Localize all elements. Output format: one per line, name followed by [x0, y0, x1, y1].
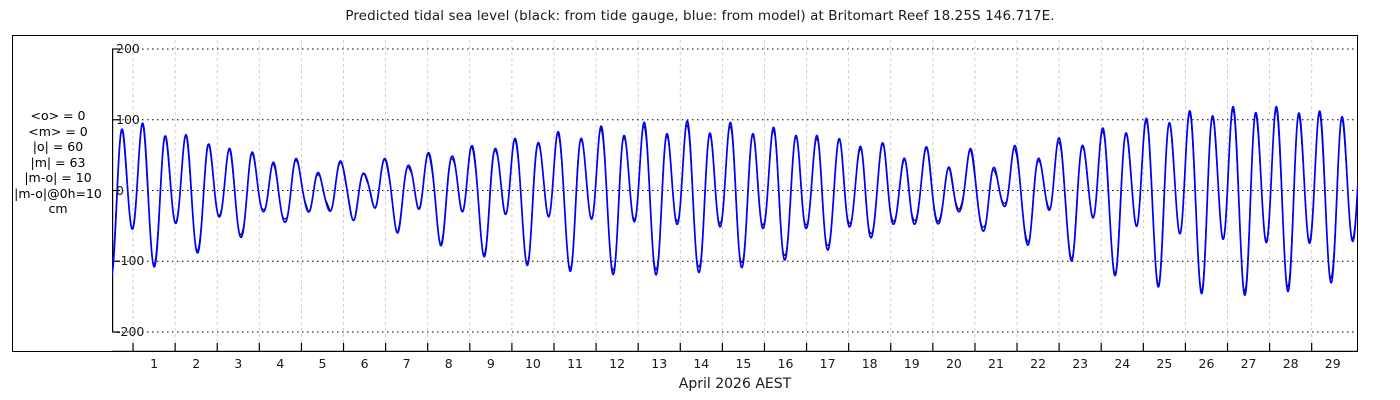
x-tick-label: 5: [302, 356, 342, 371]
x-tick-label: 9: [471, 356, 511, 371]
x-axis-ticks: [133, 343, 1312, 352]
x-tick-label: 6: [345, 356, 385, 371]
x-tick-label: 7: [387, 356, 427, 371]
x-tick-label: 18: [850, 356, 890, 371]
stat-mean-model: <m> = 0: [6, 124, 110, 140]
x-tick-label: 29: [1313, 356, 1353, 371]
x-tick-label: 22: [1018, 356, 1058, 371]
x-tick-label: 3: [218, 356, 258, 371]
x-tick-label: 1: [134, 356, 174, 371]
y-tick-label: 0: [116, 183, 124, 198]
x-tick-label: 8: [429, 356, 469, 371]
x-tick-label: 16: [766, 356, 806, 371]
tidal-chart-figure: Predicted tidal sea level (black: from t…: [0, 0, 1400, 400]
x-tick-label: 10: [513, 356, 553, 371]
stat-abs-model: |m| = 63: [6, 155, 110, 171]
stat-mean-observed: <o> = 0: [6, 108, 110, 124]
y-tick-label: 200: [116, 41, 140, 56]
x-axis-title: April 2026 AEST: [112, 376, 1358, 392]
statistics-block: <o> = 0 <m> = 0 |o| = 60 |m| = 63 |m-o| …: [6, 108, 110, 217]
x-tick-label: 28: [1271, 356, 1311, 371]
x-tick-label: 11: [555, 356, 595, 371]
stat-units: cm: [6, 201, 110, 217]
chart-title: Predicted tidal sea level (black: from t…: [0, 8, 1400, 24]
x-tick-label: 21: [976, 356, 1016, 371]
x-tick-label: 23: [1060, 356, 1100, 371]
x-tick-label: 13: [639, 356, 679, 371]
stat-abs-observed: |o| = 60: [6, 139, 110, 155]
x-tick-label: 20: [934, 356, 974, 371]
x-tick-label: 15: [723, 356, 763, 371]
series-model: [112, 107, 1358, 296]
stat-abs-diff-at-0h: |m-o|@0h=10: [6, 186, 110, 202]
vertical-gridlines: [133, 40, 1312, 352]
x-tick-label: 27: [1229, 356, 1269, 371]
x-tick-label: 19: [892, 356, 932, 371]
tide-plot-svg: [112, 40, 1358, 352]
x-tick-label: 4: [260, 356, 300, 371]
plot-area: [112, 40, 1358, 352]
y-tick-label: -200: [116, 324, 144, 339]
x-tick-label: 2: [176, 356, 216, 371]
x-tick-label: 14: [681, 356, 721, 371]
stat-abs-diff: |m-o| = 10: [6, 170, 110, 186]
x-tick-label: 17: [808, 356, 848, 371]
y-tick-label: 100: [116, 112, 140, 127]
x-tick-label: 26: [1186, 356, 1226, 371]
y-tick-label: -100: [116, 253, 144, 268]
x-tick-label: 25: [1144, 356, 1184, 371]
x-tick-label: 24: [1102, 356, 1142, 371]
x-tick-label: 12: [597, 356, 637, 371]
